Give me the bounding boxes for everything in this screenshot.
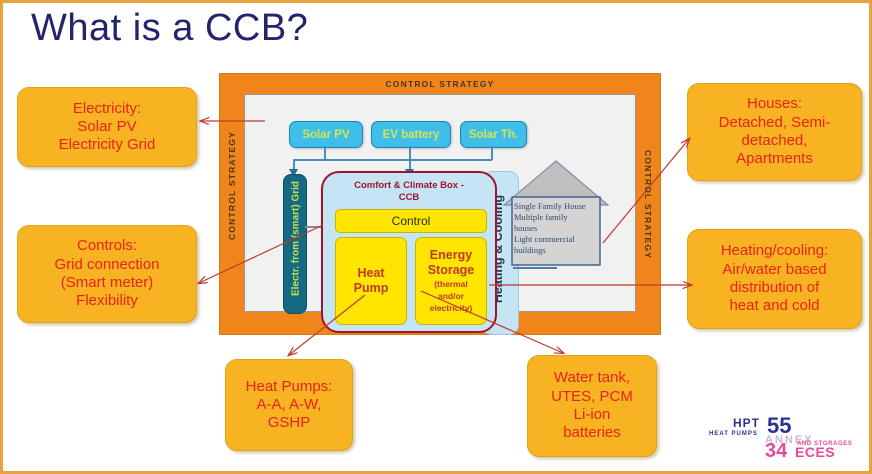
- callout-controls-line1: Controls:: [77, 237, 137, 255]
- callout-controls-line2: Grid connection: [54, 256, 159, 274]
- callout-storage-line3: Li-ion: [574, 406, 611, 424]
- callout-heating-cooling-line4: heat and cold: [729, 297, 819, 315]
- callout-controls[interactable]: Controls: Grid connection (Smart meter) …: [17, 225, 197, 323]
- ccb-title: Comfort & Climate Box - CCB: [329, 180, 489, 204]
- hpt-annex-logo: HPT HEAT PUMPS 55 ANNEX 34 ECES AND STOR…: [701, 411, 853, 463]
- callout-houses-line4: Apartments: [736, 150, 813, 168]
- building-illustration: Single Family House Multiple family hous…: [500, 157, 612, 269]
- ccb-energy-storage-block: Energy Storage (thermal and/or electrici…: [415, 237, 487, 325]
- callout-houses-line2: Detached, Semi-: [719, 114, 831, 132]
- diagram-inner-panel: Solar PV EV battery Solar Th. Electr. fr…: [244, 94, 636, 312]
- callout-electricity[interactable]: Electricity: Solar PV Electricity Grid: [17, 87, 197, 167]
- page-title: What is a CCB?: [31, 7, 308, 50]
- callout-heat-pumps[interactable]: Heat Pumps: A-A, A-W, GSHP: [225, 359, 353, 451]
- heat-pump-line1: Heat: [357, 266, 384, 281]
- callout-heat-pumps-line3: GSHP: [268, 414, 311, 432]
- control-strategy-label-top: CONTROL STRATEGY: [220, 79, 660, 89]
- callout-heating-cooling-line1: Heating/cooling:: [721, 242, 829, 260]
- callout-heating-cooling[interactable]: Heating/cooling: Air/water based distrib…: [687, 229, 862, 329]
- electricity-grid-bar: Electr. from (smart) Grid: [283, 174, 307, 314]
- callout-storage[interactable]: Water tank, UTES, PCM Li-ion batteries: [527, 355, 657, 457]
- logo-hpt: HPT: [733, 416, 760, 430]
- house-line4: Light commercial: [514, 234, 575, 244]
- callout-controls-line3: (Smart meter): [61, 274, 154, 292]
- callout-heating-cooling-line3: distribution of: [730, 279, 819, 297]
- house-line1: Single Family House: [514, 201, 586, 211]
- energy-storage-line2: Storage: [428, 263, 475, 277]
- energy-storage-sub2: and/or: [438, 291, 464, 301]
- callout-electricity-line2: Solar PV: [77, 118, 136, 136]
- callout-houses[interactable]: Houses: Detached, Semi- detached, Apartm…: [687, 83, 862, 181]
- callout-electricity-line1: Electricity:: [73, 100, 141, 118]
- callout-heating-cooling-line2: Air/water based: [722, 261, 826, 279]
- logo-heat-pumps: HEAT PUMPS: [709, 431, 758, 437]
- electricity-grid-bar-label: Electr. from (smart) Grid: [291, 179, 302, 299]
- ccb-title-line2: CCB: [399, 192, 420, 203]
- heat-pump-line2: Pump: [354, 281, 389, 296]
- energy-storage-line1: Energy: [430, 248, 472, 262]
- callout-storage-line1: Water tank,: [554, 369, 630, 387]
- callout-storage-line2: UTES, PCM: [551, 388, 633, 406]
- control-strategy-label-left: CONTROL STRATEGY: [227, 150, 237, 240]
- callout-heat-pumps-line2: A-A, A-W,: [256, 396, 321, 414]
- callout-heat-pumps-line1: Heat Pumps:: [246, 378, 333, 396]
- ccb-title-line1: Comfort & Climate Box -: [354, 180, 464, 191]
- slide-canvas: What is a CCB? CONTROL STRATEGY CONTROL …: [0, 0, 872, 474]
- logo-34: 34: [765, 440, 788, 462]
- house-line5: buildings: [514, 245, 546, 255]
- logo-and-storages: AND STORAGES: [797, 441, 852, 447]
- house-line2: Multiple family: [514, 212, 568, 222]
- comfort-climate-box: Comfort & Climate Box - CCB Control Heat…: [321, 171, 497, 333]
- house-line3: houses: [514, 223, 537, 233]
- callout-storage-line4: batteries: [563, 424, 621, 442]
- energy-storage-sub1: (thermal: [434, 279, 468, 289]
- callout-houses-line1: Houses:: [747, 95, 802, 113]
- callout-houses-line3: detached,: [742, 132, 808, 150]
- ccb-control-block: Control: [335, 209, 487, 233]
- ccb-system-diagram: CONTROL STRATEGY CONTROL STRATEGY CONTRO…: [219, 73, 661, 335]
- callout-controls-line4: Flexibility: [76, 292, 138, 310]
- callout-electricity-line3: Electricity Grid: [59, 136, 156, 154]
- ccb-heat-pump-block: Heat Pump: [335, 237, 407, 325]
- house-description: Single Family House Multiple family hous…: [514, 201, 606, 255]
- control-strategy-label-right: CONTROL STRATEGY: [643, 150, 653, 240]
- energy-storage-sub3: electricity): [430, 303, 473, 313]
